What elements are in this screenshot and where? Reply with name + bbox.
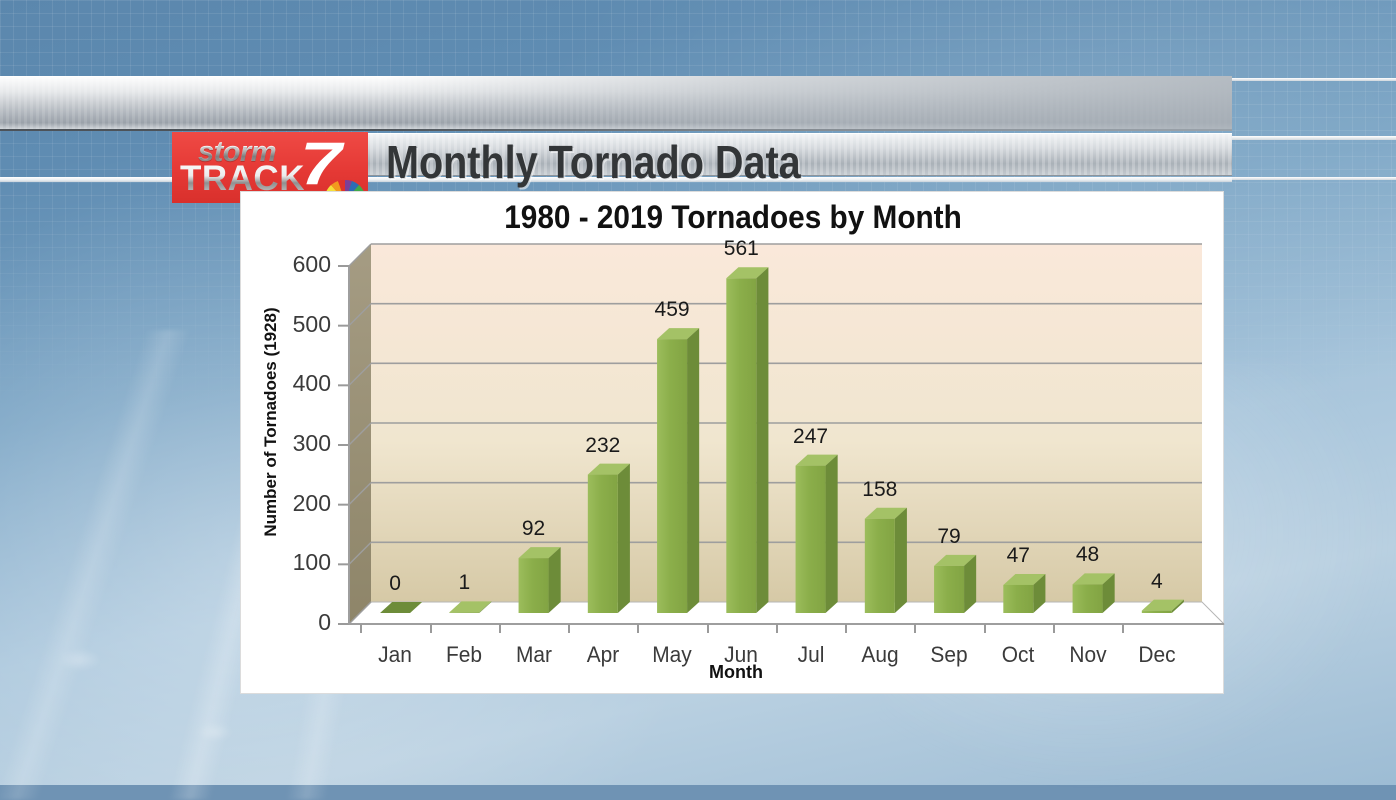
x-axis-tick-mark [499, 624, 501, 633]
y-axis-tick-label: 0 [269, 609, 331, 636]
bar-value-label: 92 [492, 517, 576, 541]
x-axis-tick-label: Dec [1114, 642, 1200, 668]
x-axis-tick-mark [1122, 624, 1124, 633]
banner-rule-bottom-right [1232, 177, 1396, 180]
banner-rule-top-right [1232, 78, 1396, 81]
banner-primary-bar-shading [380, 76, 1232, 131]
x-axis-tick-mark [430, 624, 432, 633]
bar-value-label: 158 [838, 478, 922, 502]
banner-title: Monthly Tornado Data [386, 139, 801, 185]
chart-svg [241, 192, 1225, 695]
bar-value-label: 561 [699, 237, 783, 261]
y-axis-tick-label: 400 [269, 370, 331, 397]
x-axis-tick-mark [845, 624, 847, 633]
x-axis-tick-mark [914, 624, 916, 633]
bar-value-label: 1 [422, 571, 506, 595]
x-axis-tick-mark [776, 624, 778, 633]
x-axis-tick-mark [637, 624, 639, 633]
bar-value-label: 48 [1046, 543, 1130, 567]
x-axis-tick-mark [984, 624, 986, 633]
bar-value-label: 459 [630, 298, 714, 322]
y-axis-tick-label: 100 [269, 549, 331, 576]
y-axis-title: Number of Tornadoes (1928) [261, 242, 281, 602]
y-axis-tick-label: 600 [269, 251, 331, 278]
x-axis-tick-mark [360, 624, 362, 633]
chart-plot-area: Number of Tornadoes (1928) Month 0100200… [241, 192, 1225, 695]
y-axis-tick-label: 500 [269, 311, 331, 338]
x-axis-tick-mark [568, 624, 570, 633]
chart-card: 1980 - 2019 Tornadoes by Month Number of… [240, 191, 1224, 694]
bar-value-label: 232 [561, 434, 645, 458]
y-axis-tick-label: 300 [269, 430, 331, 457]
bar-value-label: 247 [769, 425, 853, 449]
y-axis-tick-label: 200 [269, 490, 331, 517]
banner-rule-mid-right [1232, 136, 1396, 140]
x-axis-tick-mark [1053, 624, 1055, 633]
bar-value-label: 4 [1115, 570, 1199, 594]
lower-third-banner: storm TRACK 7 Monthly Tornado Data Court… [0, 64, 1396, 189]
x-axis-tick-mark [707, 624, 709, 633]
